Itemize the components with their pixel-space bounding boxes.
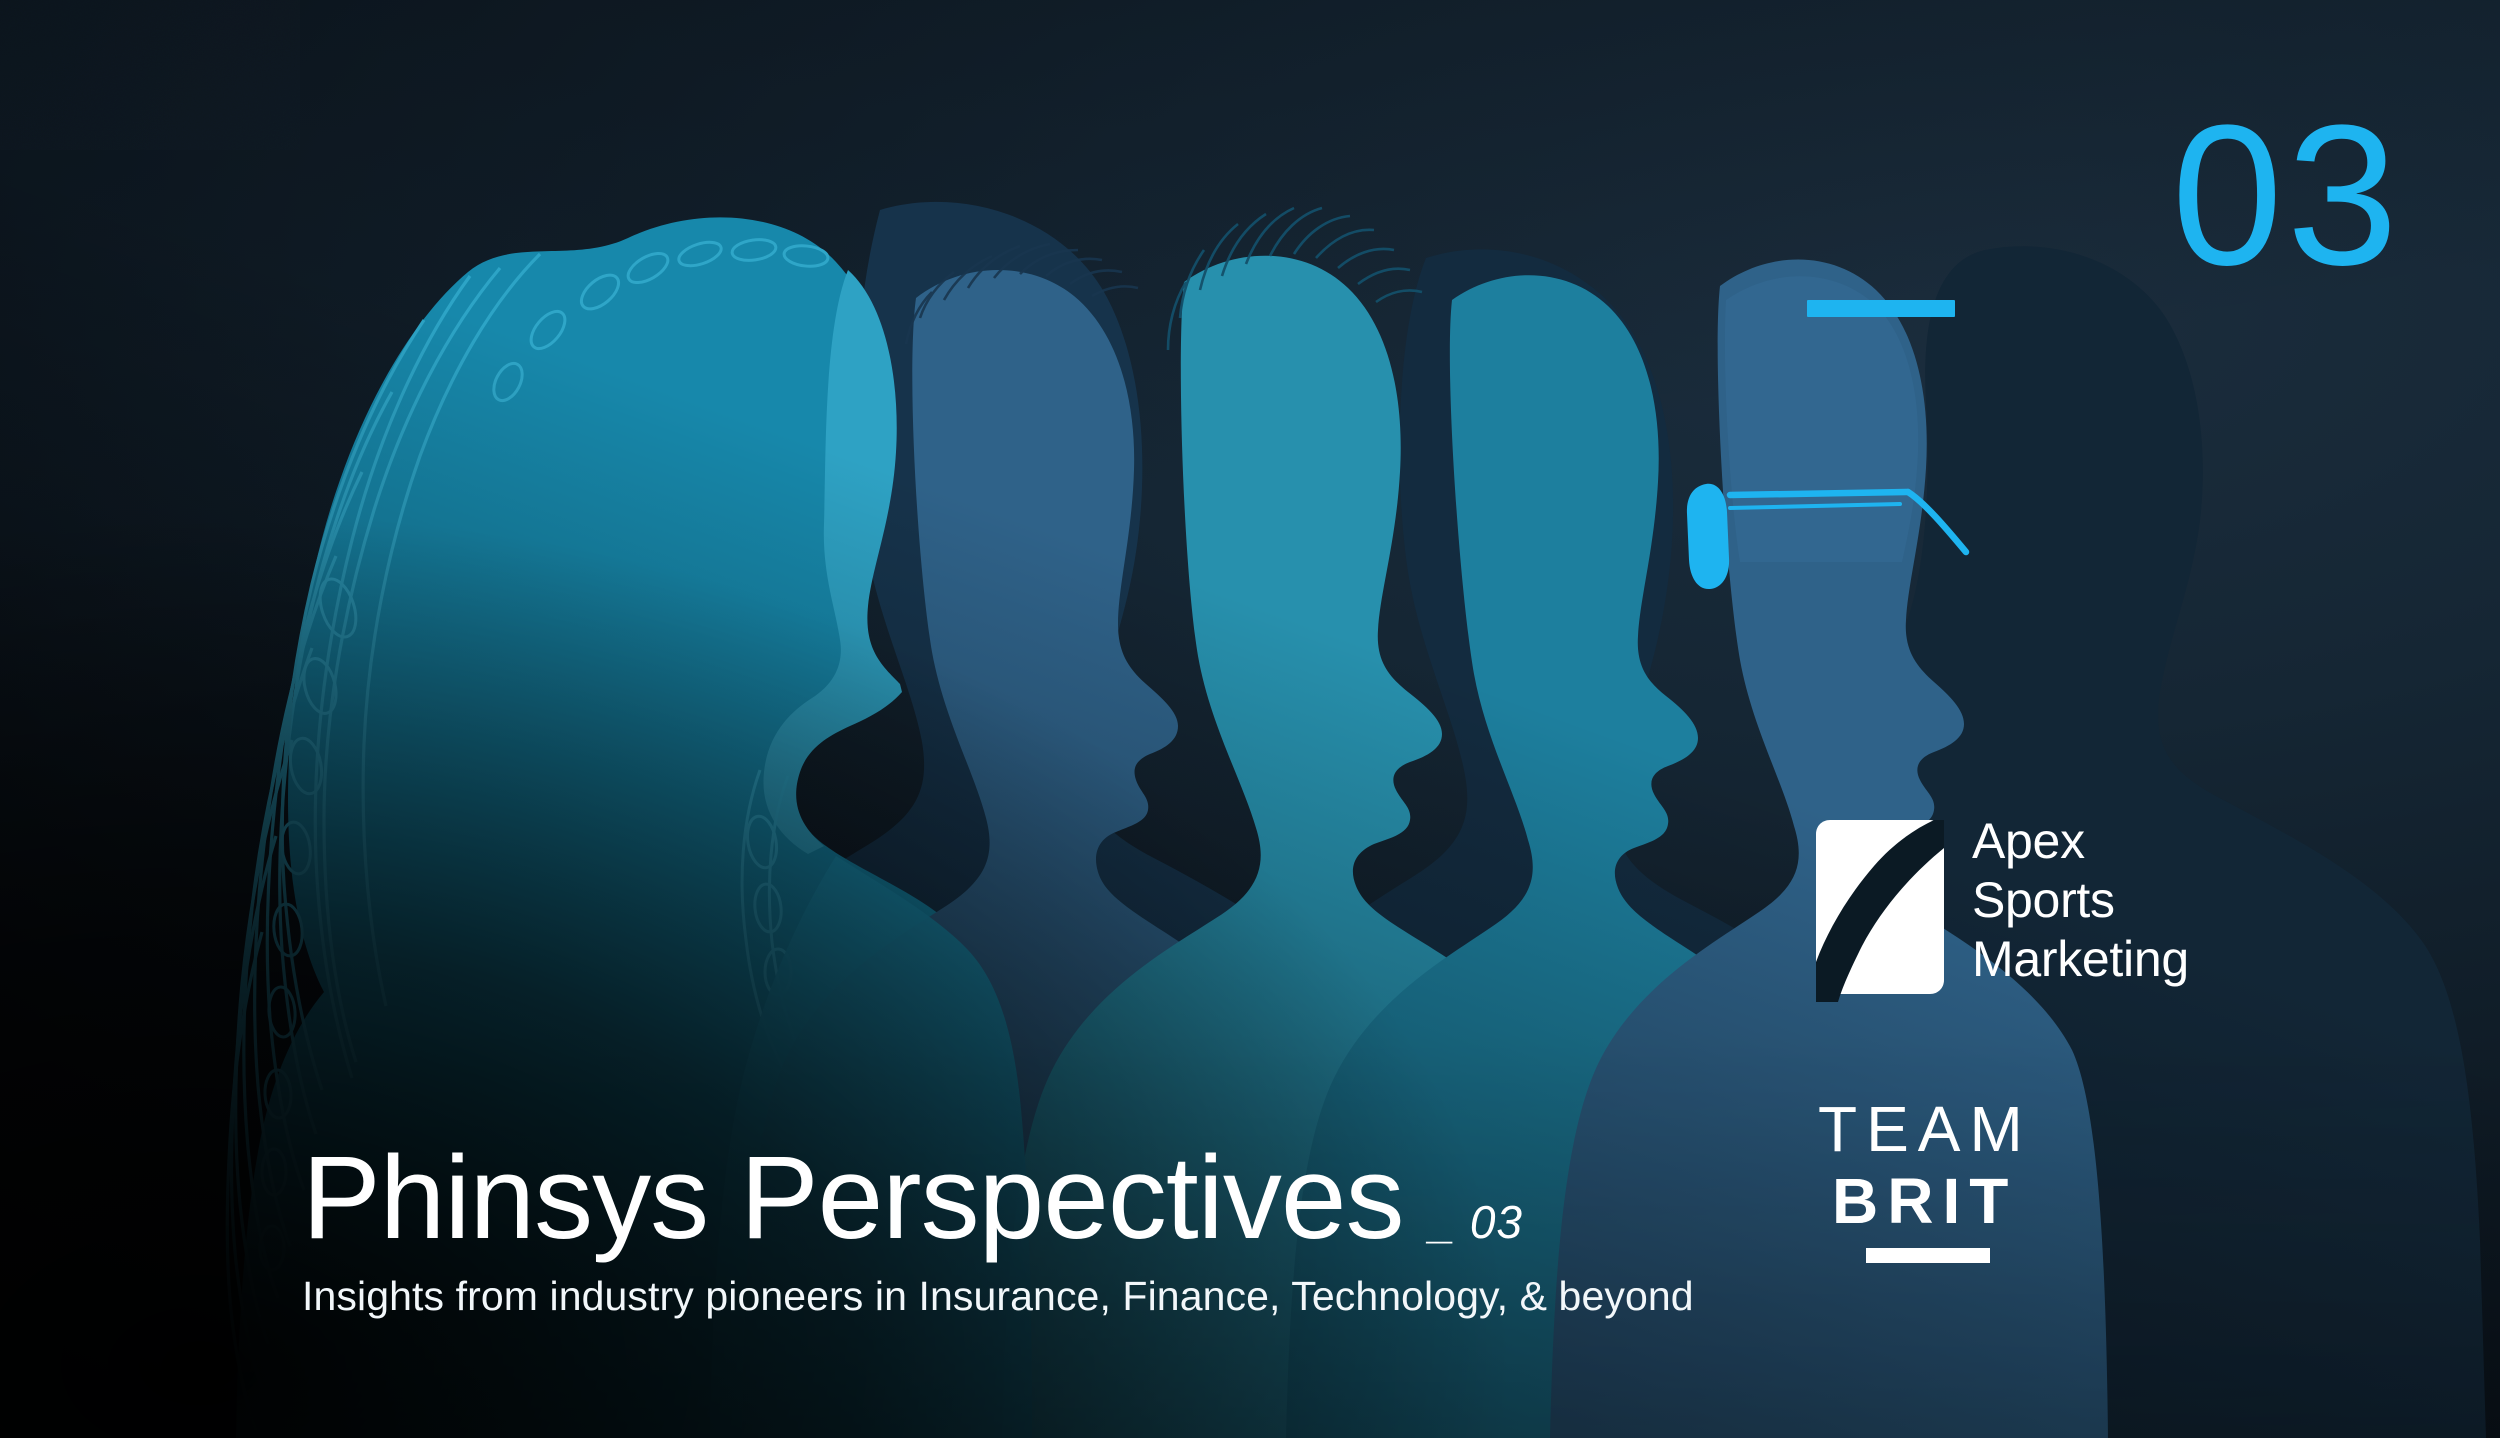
page-title: Phinsys Perspectives [302,1139,1403,1257]
apex-sports-marketing-logo: Apex Sports Marketing [1816,812,2189,1002]
issue-number: 03 [2172,96,2402,296]
brit-line-team: TEAM [1818,1098,2108,1161]
apex-swoosh-icon [1816,812,1944,1002]
apex-line-3: Marketing [1972,930,2189,989]
apex-line-2: Sports [1972,871,2189,930]
apex-line-1: Apex [1972,812,2189,871]
poster-canvas: 03 Phinsys Perspectives _ 03 Insights fr… [0,0,2500,1438]
issue-dash-icon [1807,300,1955,317]
title-block: Phinsys Perspectives _ 03 Insights from … [302,1139,1602,1320]
title-row: Phinsys Perspectives _ 03 [302,1139,1602,1257]
page-subtitle: Insights from industry pioneers in Insur… [302,1273,1602,1320]
team-brit-logo: TEAM BRIT [1818,1098,2108,1263]
title-issue-suffix: _ 03 [1429,1195,1523,1249]
apex-wordmark: Apex Sports Marketing [1972,812,2189,989]
brit-underline-bar-icon [1866,1248,1990,1263]
brit-line-brit: BRIT [1832,1169,2108,1234]
